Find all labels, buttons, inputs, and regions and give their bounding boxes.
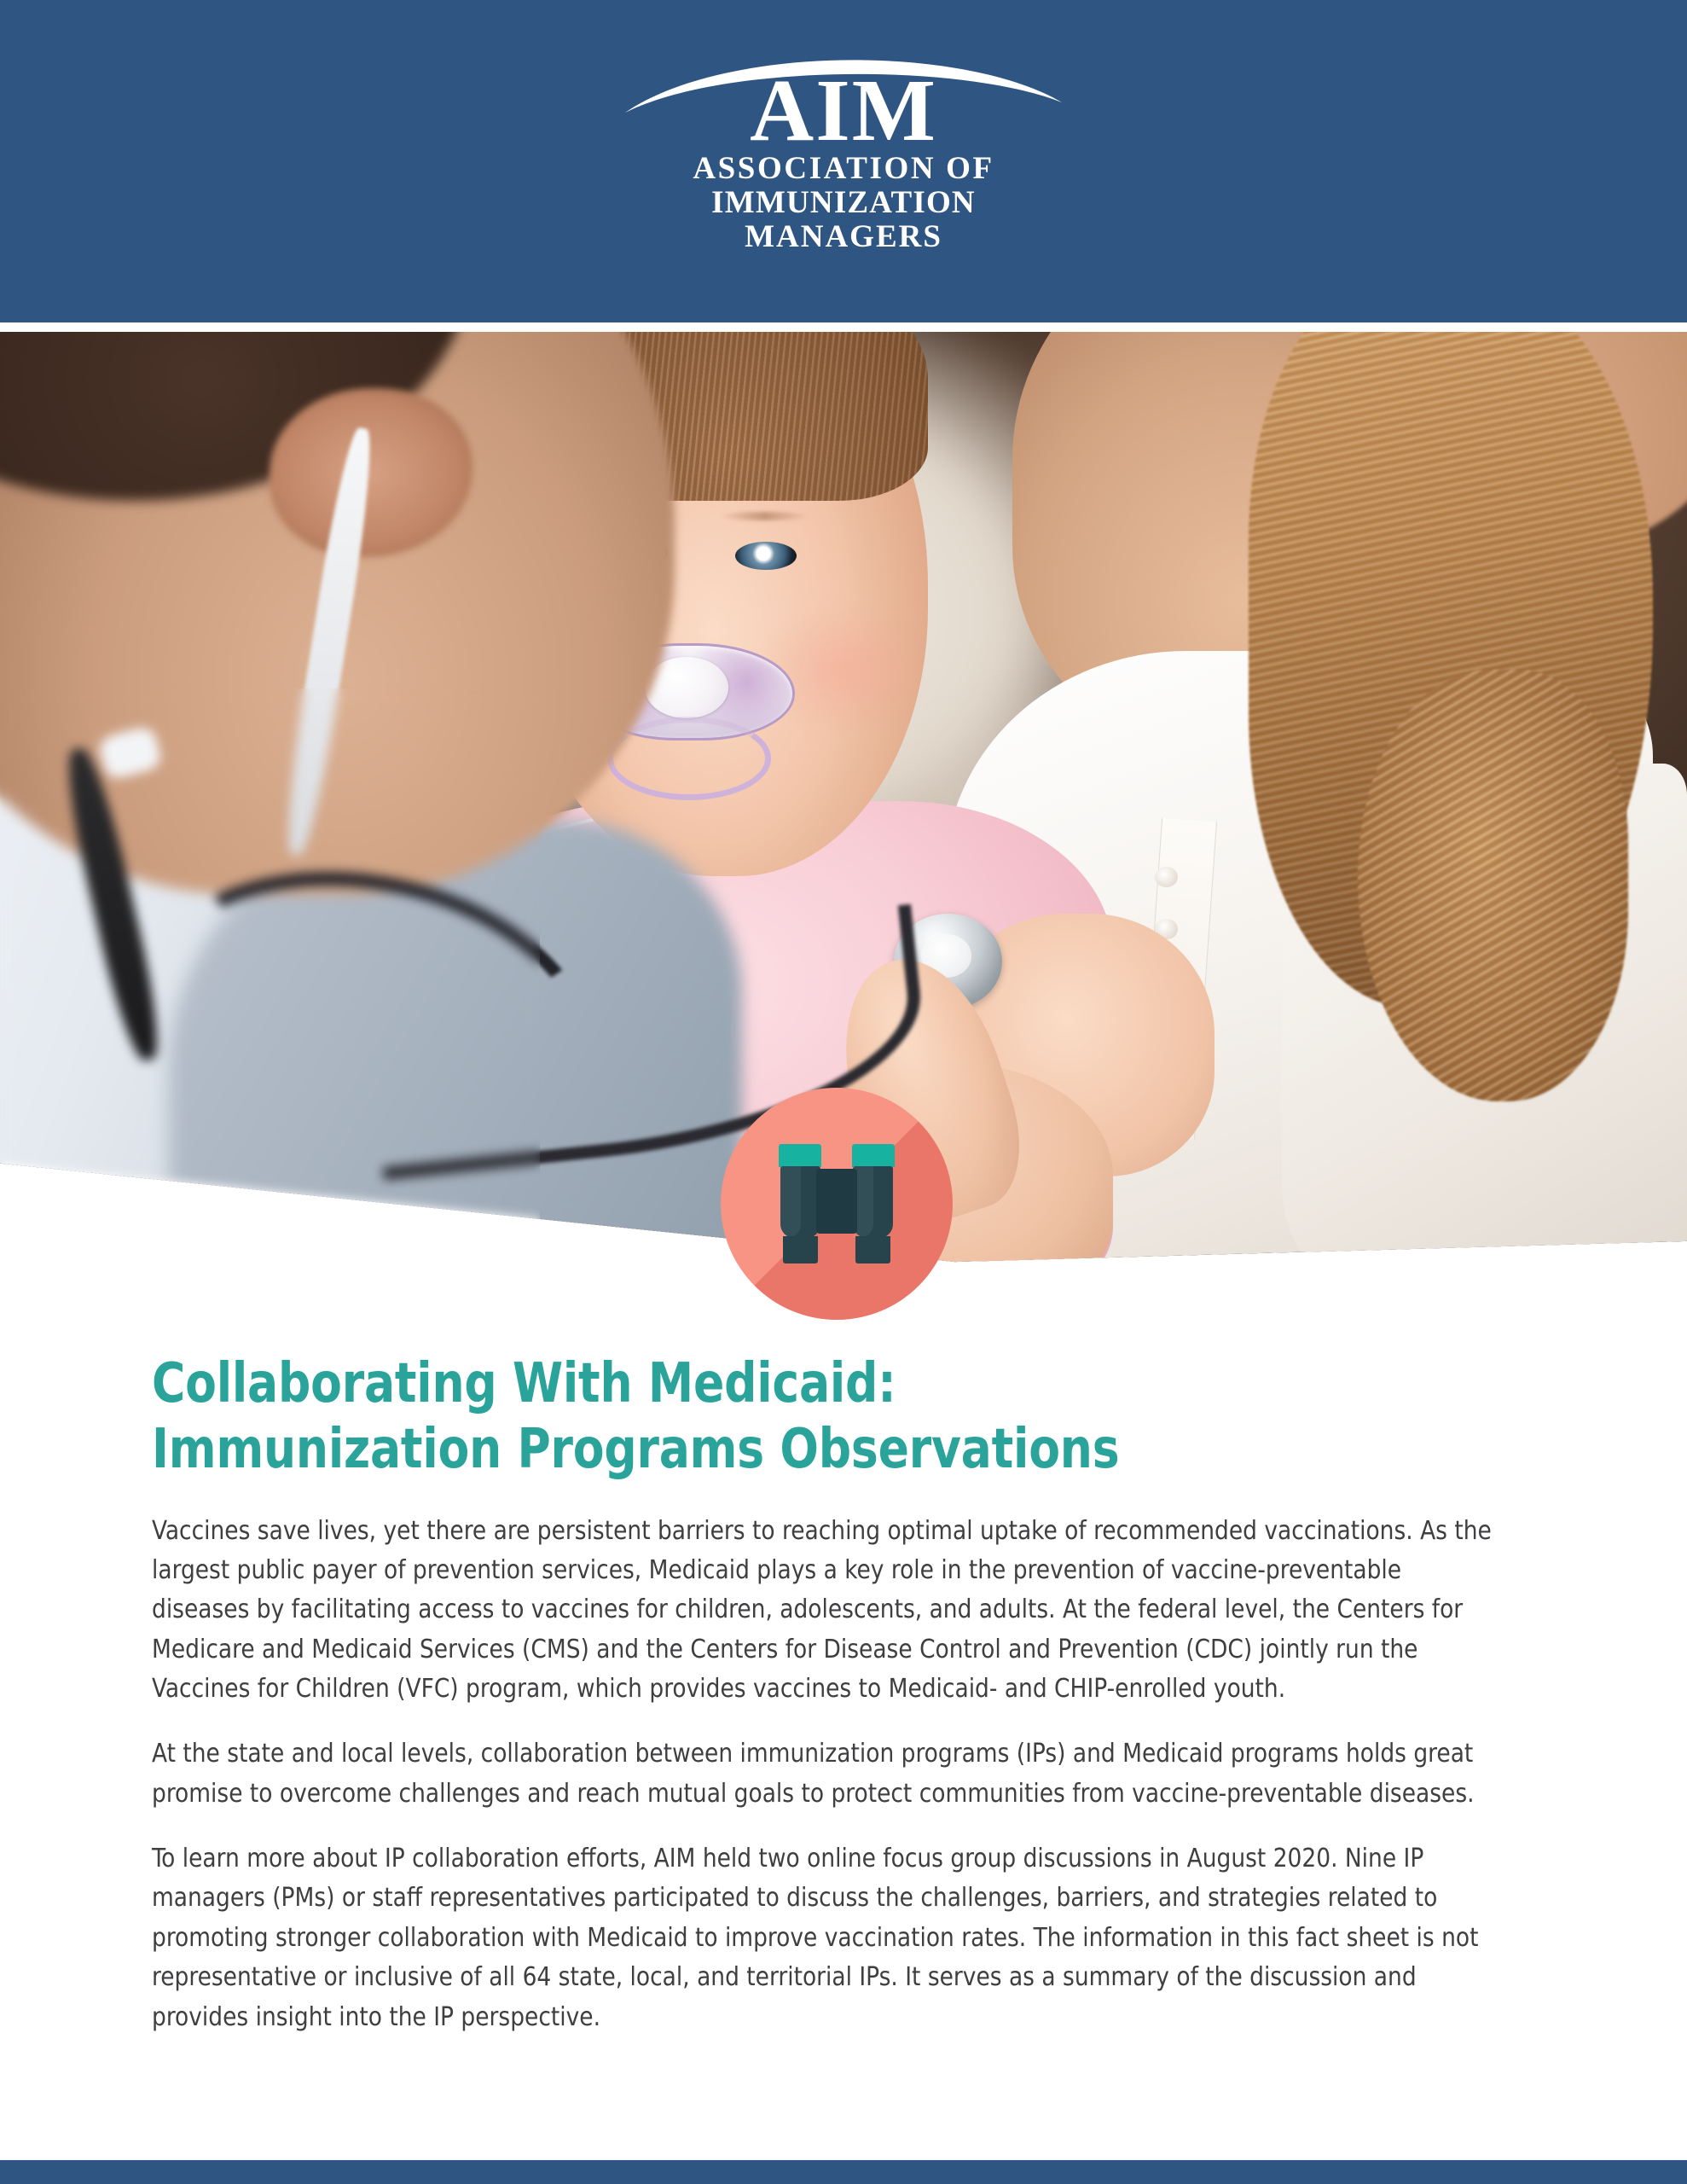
mother-shirt-button — [1155, 867, 1178, 887]
binoculars-badge — [721, 1088, 953, 1320]
page-title-line-2: Immunization Programs Observations — [152, 1417, 1445, 1483]
aim-fullname: ASSOCIATION OF IMMUNIZATION MANAGERS — [613, 152, 1074, 254]
page-title-line-1: Collaborating With Medicaid: — [152, 1351, 1445, 1417]
aim-acronym: AIM — [613, 70, 1074, 152]
binoculars-lens-top-left — [779, 1144, 821, 1167]
header-divider — [0, 322, 1687, 332]
binoculars-eyepiece-left — [783, 1236, 818, 1263]
binoculars-eyepiece-right — [855, 1236, 890, 1263]
paragraph-1: Vaccines save lives, yet there are persi… — [152, 1512, 1493, 1710]
paragraph-2: At the state and local levels, collabora… — [152, 1734, 1493, 1814]
aim-logo: AIM ASSOCIATION OF IMMUNIZATION MANAGERS — [613, 39, 1074, 254]
binoculars-barrel-highlight-left — [780, 1166, 801, 1238]
baby-cheek — [759, 604, 928, 735]
header-banner: AIM ASSOCIATION OF IMMUNIZATION MANAGERS — [0, 0, 1687, 322]
fact-sheet-page: AIM ASSOCIATION OF IMMUNIZATION MANAGERS — [0, 0, 1687, 2184]
baby-eye-right — [735, 542, 796, 570]
binoculars-icon — [779, 1144, 895, 1263]
body-copy: Vaccines save lives, yet there are persi… — [152, 1512, 1542, 2037]
page-title: Collaborating With Medicaid: Immunizatio… — [152, 1351, 1445, 1483]
article-content: Collaborating With Medicaid: Immunizatio… — [152, 1351, 1542, 2037]
paragraph-3: To learn more about IP collaboration eff… — [152, 1839, 1493, 2037]
aim-fullname-line-3: MANAGERS — [613, 220, 1074, 254]
footer-banner — [0, 2160, 1687, 2184]
binoculars-bridge — [816, 1169, 857, 1234]
aim-fullname-line-2: IMMUNIZATION — [613, 186, 1074, 220]
binoculars-lens-top-right — [852, 1144, 895, 1167]
